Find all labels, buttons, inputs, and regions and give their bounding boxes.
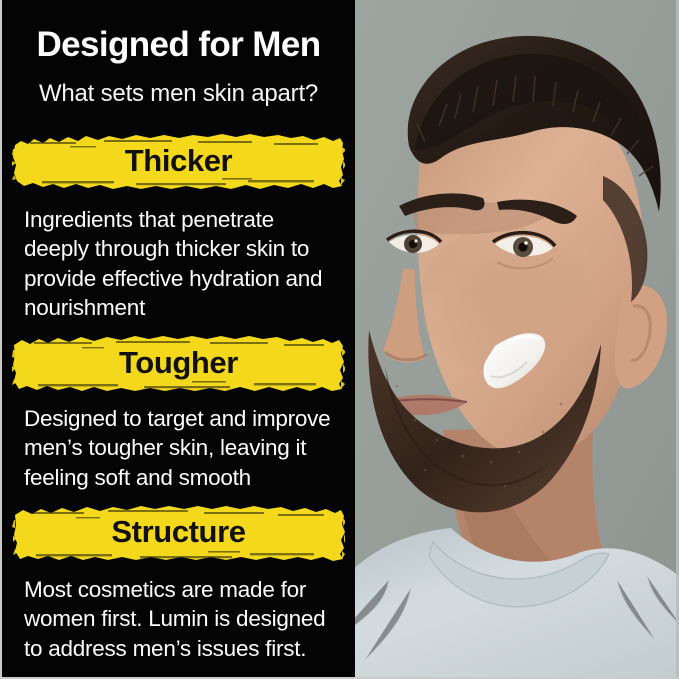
page-subtitle: What sets men skin apart? <box>2 80 355 108</box>
section-heading-banner-structure: Structure <box>12 502 345 564</box>
section-heading-thicker: Thicker <box>12 131 345 193</box>
section-heading-banner-tougher: Tougher <box>12 333 345 395</box>
section-heading-tougher: Tougher <box>12 333 345 395</box>
section-heading-structure: Structure <box>12 502 345 564</box>
page-title: Designed for Men <box>2 26 355 65</box>
section-body-tougher: Designed to target and improve men’s tou… <box>24 404 344 492</box>
section-body-thicker: Ingredients that penetrate deeply throug… <box>24 205 344 323</box>
section-heading-banner-thicker: Thicker <box>12 131 345 193</box>
product-model-photo <box>355 0 679 679</box>
section-body-structure: Most cosmetics are made for women first.… <box>24 575 344 663</box>
model-portrait-illustration <box>355 0 679 679</box>
product-infographic: Designed for Men What sets men skin apar… <box>0 0 679 679</box>
info-text-panel: Designed for Men What sets men skin apar… <box>2 0 355 679</box>
